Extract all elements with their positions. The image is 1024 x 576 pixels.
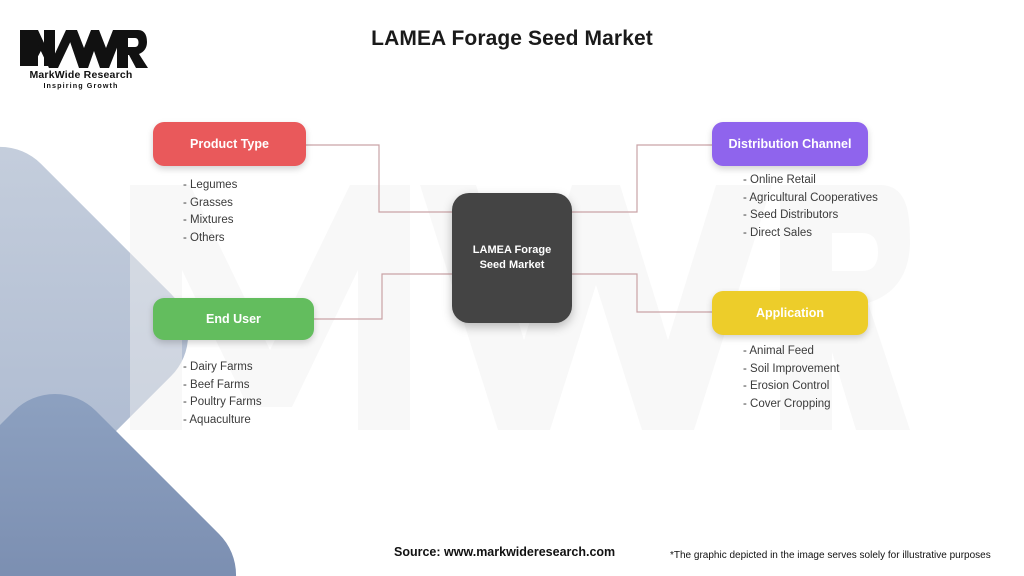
- disclaimer-label: *The graphic depicted in the image serve…: [670, 550, 991, 561]
- branch-label-distribution-channel: Distribution Channel: [729, 137, 852, 151]
- branch-label-application: Application: [756, 306, 824, 320]
- list-item: - Erosion Control: [743, 378, 840, 396]
- branch-items-end-user: - Dairy Farms - Beef Farms - Poultry Far…: [183, 359, 262, 429]
- list-item: - Agricultural Cooperatives: [743, 190, 878, 208]
- list-item: - Online Retail: [743, 172, 878, 190]
- list-item: - Soil Improvement: [743, 361, 840, 379]
- list-item: - Animal Feed: [743, 343, 840, 361]
- list-item: - Others: [183, 230, 237, 248]
- list-item: - Dairy Farms: [183, 359, 262, 377]
- list-item: - Grasses: [183, 195, 237, 213]
- list-item: - Aquaculture: [183, 412, 262, 430]
- branch-node-end-user[interactable]: End User: [153, 298, 314, 340]
- connector-product-type: [306, 145, 452, 212]
- list-item: - Direct Sales: [743, 225, 878, 243]
- connector-application: [572, 274, 712, 312]
- connector-distribution-channel: [572, 145, 712, 212]
- branch-node-application[interactable]: Application: [712, 291, 868, 335]
- branch-node-product-type[interactable]: Product Type: [153, 122, 306, 166]
- center-node[interactable]: LAMEA Forage Seed Market: [452, 193, 572, 323]
- center-node-label: LAMEA Forage Seed Market: [452, 243, 572, 273]
- list-item: - Cover Cropping: [743, 396, 840, 414]
- branch-items-product-type: - Legumes - Grasses - Mixtures - Others: [183, 177, 237, 247]
- diagram-canvas: MarkWide Research Inspiring Growth LAMEA…: [0, 0, 1024, 576]
- branch-items-distribution-channel: - Online Retail - Agricultural Cooperati…: [743, 172, 878, 242]
- list-item: - Seed Distributors: [743, 207, 878, 225]
- list-item: - Mixtures: [183, 212, 237, 230]
- list-item: - Beef Farms: [183, 377, 262, 395]
- branch-node-distribution-channel[interactable]: Distribution Channel: [712, 122, 868, 166]
- source-label: Source: www.markwideresearch.com: [394, 545, 615, 559]
- list-item: - Legumes: [183, 177, 237, 195]
- branch-label-end-user: End User: [206, 312, 261, 326]
- connector-end-user: [314, 274, 452, 319]
- list-item: - Poultry Farms: [183, 394, 262, 412]
- branch-items-application: - Animal Feed - Soil Improvement - Erosi…: [743, 343, 840, 413]
- branch-label-product-type: Product Type: [190, 137, 269, 151]
